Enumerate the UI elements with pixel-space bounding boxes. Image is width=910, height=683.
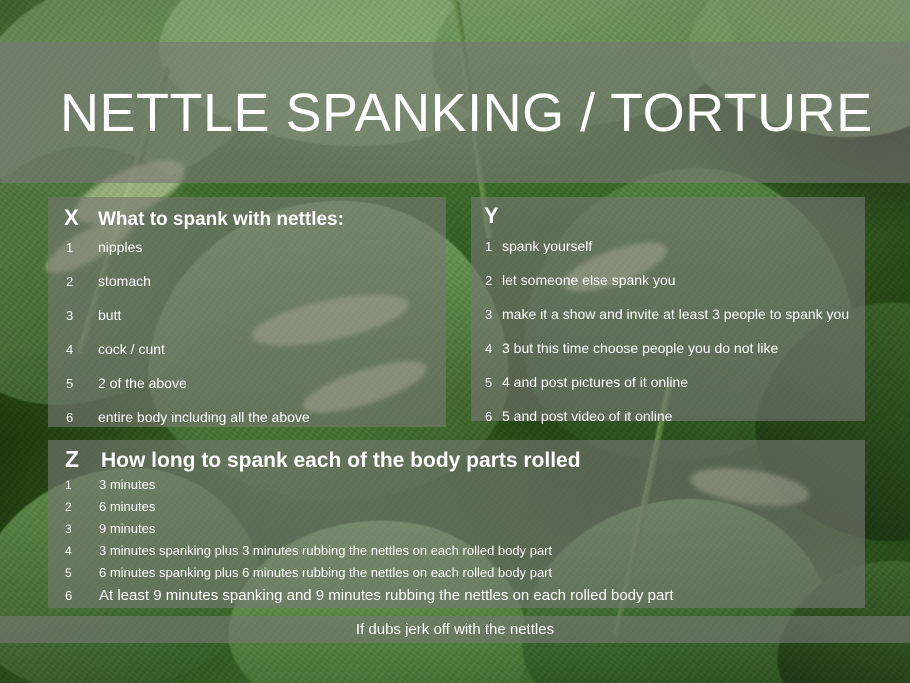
row-number: 1 (485, 239, 502, 254)
column-z-header: Z How long to spank each of the body par… (48, 440, 865, 473)
list-item: 6At least 9 minutes spanking and 9 minut… (48, 587, 865, 611)
row-number: 5 (66, 376, 98, 391)
row-text: At least 9 minutes spanking and 9 minute… (99, 587, 674, 604)
row-number: 4 (485, 341, 502, 356)
column-x-letter: X (64, 205, 98, 231)
list-item: 3make it a show and invite at least 3 pe… (471, 306, 865, 340)
column-panel-x: X What to spank with nettles: 1nipples 2… (48, 197, 446, 427)
list-item: 52 of the above (48, 375, 446, 409)
list-item: 43 but this time choose people you do no… (471, 340, 865, 374)
row-number: 6 (485, 409, 502, 424)
footer-rule-text: If dubs jerk off with the nettles (356, 621, 554, 638)
row-text: cock / cunt (98, 341, 165, 357)
column-y-rows: 1spank yourself 2let someone else spank … (471, 238, 865, 442)
list-item: 4cock / cunt (48, 341, 446, 375)
list-item: 1nipples (48, 239, 446, 273)
title-banner: NETTLE SPANKING / TORTURE (0, 42, 910, 183)
row-number: 5 (485, 375, 502, 390)
list-item: 1spank yourself (471, 238, 865, 272)
list-item: 43 minutes spanking plus 3 minutes rubbi… (48, 543, 865, 565)
list-item: 54 and post pictures of it online (471, 374, 865, 408)
row-text: spank yourself (502, 238, 592, 254)
row-number: 3 (66, 308, 98, 323)
list-item: 56 minutes spanking plus 6 minutes rubbi… (48, 565, 865, 587)
list-item: 39 minutes (48, 521, 865, 543)
row-text: 3 minutes (99, 477, 155, 492)
row-text: 2 of the above (98, 375, 187, 391)
row-text: entire body including all the above (98, 409, 310, 425)
column-z-letter: Z (65, 446, 101, 473)
row-number: 1 (65, 478, 99, 492)
list-item: 13 minutes (48, 477, 865, 499)
row-text: 5 and post video of it online (502, 408, 672, 424)
row-text: let someone else spank you (502, 272, 676, 288)
row-number: 6 (66, 410, 98, 425)
row-number: 3 (65, 522, 99, 536)
row-text: nipples (98, 239, 142, 255)
list-item: 6entire body including all the above (48, 409, 446, 443)
column-x-rows: 1nipples 2stomach 3butt 4cock / cunt 52 … (48, 239, 446, 443)
row-number: 2 (65, 500, 99, 514)
column-panel-z: Z How long to spank each of the body par… (48, 440, 865, 608)
column-z-rows: 13 minutes 26 minutes 39 minutes 43 minu… (48, 477, 865, 611)
row-number: 2 (485, 273, 502, 288)
footer-banner: If dubs jerk off with the nettles (0, 616, 910, 643)
row-text: 3 but this time choose people you do not… (502, 340, 778, 356)
list-item: 65 and post video of it online (471, 408, 865, 442)
row-number: 4 (66, 342, 98, 357)
list-item: 2stomach (48, 273, 446, 307)
row-number: 4 (65, 544, 99, 558)
column-z-heading: How long to spank each of the body parts… (101, 449, 581, 473)
row-text: 4 and post pictures of it online (502, 374, 688, 390)
column-y-letter: Y (484, 203, 506, 229)
row-text: 3 minutes spanking plus 3 minutes rubbin… (99, 543, 552, 558)
list-item: 2let someone else spank you (471, 272, 865, 306)
image-board: NETTLE SPANKING / TORTURE X What to span… (0, 0, 910, 683)
row-text: 6 minutes (99, 499, 155, 514)
column-y-header: Y (471, 197, 865, 229)
column-x-header: X What to spank with nettles: (48, 197, 446, 231)
row-text: make it a show and invite at least 3 peo… (502, 306, 849, 322)
row-text: 6 minutes spanking plus 6 minutes rubbin… (99, 565, 552, 580)
row-number: 3 (485, 307, 502, 322)
column-panel-y: Y 1spank yourself 2let someone else span… (471, 197, 865, 421)
row-text: stomach (98, 273, 151, 289)
list-item: 26 minutes (48, 499, 865, 521)
row-number: 6 (65, 588, 99, 603)
row-number: 2 (66, 274, 98, 289)
row-text: butt (98, 307, 121, 323)
row-text: 9 minutes (99, 521, 155, 536)
page-title: NETTLE SPANKING / TORTURE (60, 86, 873, 140)
list-item: 3butt (48, 307, 446, 341)
row-number: 1 (66, 240, 98, 255)
row-number: 5 (65, 566, 99, 580)
column-x-heading: What to spank with nettles: (98, 209, 344, 231)
